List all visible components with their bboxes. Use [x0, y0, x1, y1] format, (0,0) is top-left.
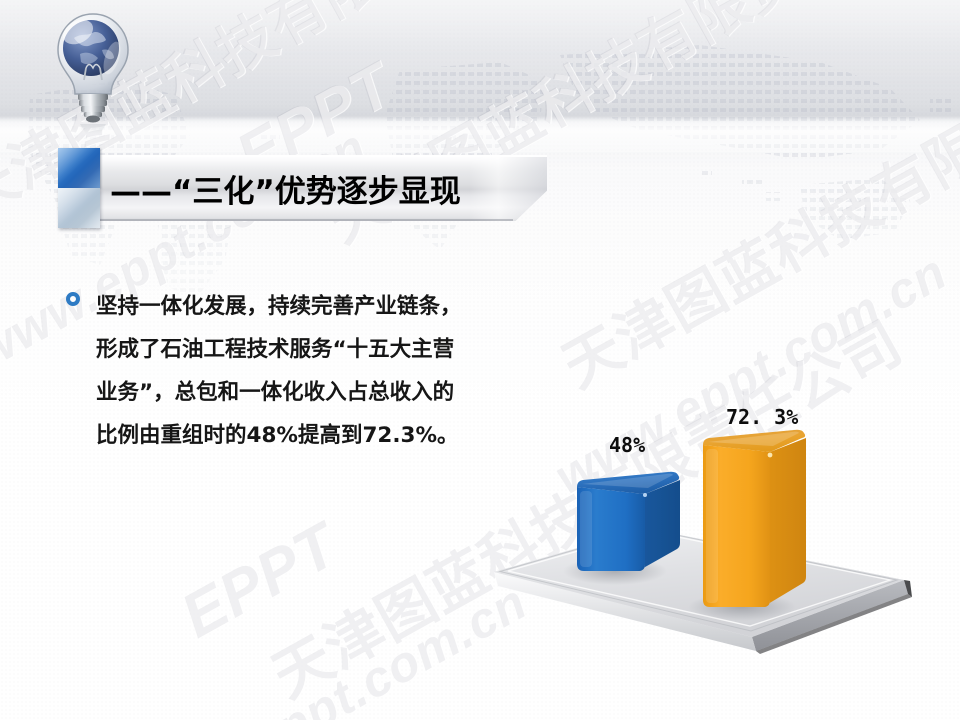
presentation-slide: EPPT 天津图蓝科技有限责任公司 www.eppt.com.cn 天津图蓝科技… — [0, 0, 960, 720]
bullet-paragraph: 坚持一体化发展，持续完善产业链条， 形成了石油工程技术服务“十五大主营 业务”，… — [96, 285, 462, 457]
bullet-line-3: 业务”，总包和一体化收入占总收入的 — [96, 371, 462, 414]
bar-chart-3d: 48% 72. 3% — [470, 395, 940, 685]
slide-title-bar: ——“三化”优势逐步显现 — [61, 155, 547, 221]
ring-bullet-icon — [66, 292, 80, 306]
content-bullet-item: 坚持一体化发展，持续完善产业链条， 形成了石油工程技术服务“十五大主营 业务”，… — [66, 285, 536, 457]
title-accent-square-silver — [58, 188, 100, 228]
bullet-line-2: 形成了石油工程技术服务“十五大主营 — [96, 328, 462, 371]
bullet-line-4: 比例由重组时的48%提高到72.3%。 — [96, 414, 462, 457]
bar-label-first: 48% — [609, 433, 645, 457]
title-accent-square-blue — [58, 148, 100, 188]
bullet-line-1: 坚持一体化发展，持续完善产业链条， — [96, 285, 462, 328]
lightbulb-globe-icon — [36, 6, 158, 134]
page-title: ——“三化”优势逐步显现 — [110, 155, 461, 221]
bar-label-second: 72. 3% — [726, 405, 798, 429]
